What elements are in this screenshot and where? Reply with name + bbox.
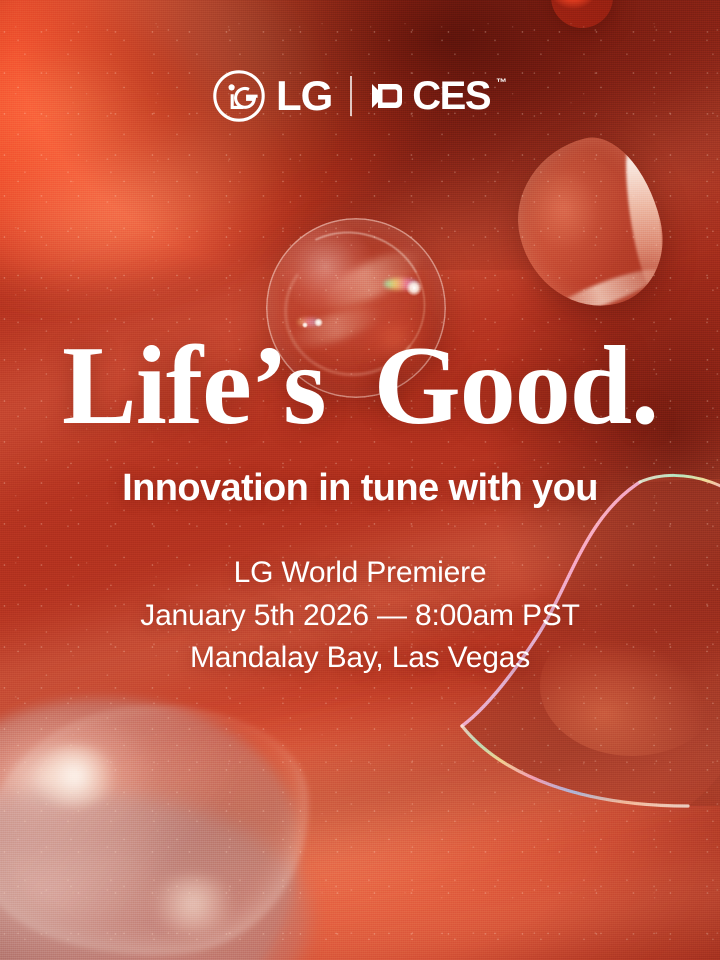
ces-trademark-symbol: ™ <box>496 78 507 89</box>
lg-face-logo-icon <box>213 70 265 122</box>
ces-wordmark: CES <box>412 76 490 116</box>
ces-logo-lockup: CES ™ <box>370 76 507 116</box>
lg-wordmark: LG <box>276 75 332 117</box>
logo-divider <box>350 76 352 116</box>
headline-part-one: Life’s <box>62 324 326 448</box>
logo-lockup-row: LG CES ™ <box>0 70 720 122</box>
page-title: Life’sGood. <box>0 330 720 442</box>
event-details: LG World Premiere January 5th 2026 — 8:0… <box>0 552 720 680</box>
headline-part-two: Good. <box>374 324 658 448</box>
ces-bubble-mark-icon <box>370 81 404 111</box>
event-name: LG World Premiere <box>0 552 720 595</box>
tagline: Innovation in tune with you <box>0 468 720 510</box>
poster-canvas: LG CES ™ Life’sGood. Innovation in tune … <box>0 0 720 960</box>
event-venue: Mandalay Bay, Las Vegas <box>0 637 720 680</box>
event-datetime: January 5th 2026 — 8:00am PST <box>0 595 720 638</box>
poster-content: LG CES ™ Life’sGood. Innovation in tune … <box>0 0 720 960</box>
lg-logo-lockup: LG <box>213 70 332 122</box>
